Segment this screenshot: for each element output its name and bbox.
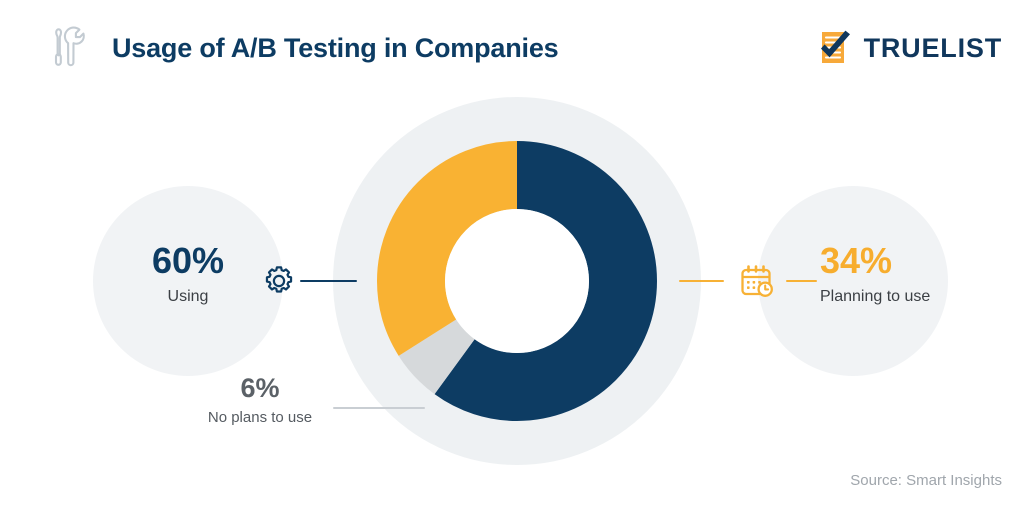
donut-center-hole	[445, 209, 589, 353]
connector-right-outer	[786, 280, 817, 282]
donut-chart	[333, 97, 701, 465]
brand-logo: TRUELIST	[815, 28, 1002, 68]
connector-bottom	[333, 407, 425, 409]
connector-left	[300, 280, 357, 282]
connector-right-inner	[679, 280, 724, 282]
infographic-canvas: Usage of A/B Testing in Companies TRUELI…	[0, 0, 1035, 511]
header: Usage of A/B Testing in Companies TRUELI…	[0, 0, 1035, 95]
stat-using: 60% Using	[108, 243, 268, 306]
stat-no-plans-label: No plans to use	[176, 409, 344, 427]
stat-planning-value: 34%	[820, 243, 930, 279]
stat-planning: 34% Planning to use	[820, 243, 930, 306]
source-note: Source: Smart Insights	[850, 472, 1002, 489]
stat-using-label: Using	[108, 287, 268, 306]
stat-using-value: 60%	[108, 243, 268, 279]
checklist-check-icon	[815, 28, 855, 68]
gear-icon	[262, 264, 296, 298]
stat-planning-label: Planning to use	[820, 287, 930, 306]
stat-no-plans: 6% No plans to use	[176, 375, 344, 427]
calendar-clock-icon	[738, 262, 776, 300]
stat-no-plans-value: 6%	[176, 375, 344, 402]
brand-name: TRUELIST	[864, 33, 1002, 64]
page-title: Usage of A/B Testing in Companies	[112, 33, 558, 64]
screwdriver-wrench-icon	[48, 26, 92, 70]
donut-segments	[333, 97, 701, 465]
